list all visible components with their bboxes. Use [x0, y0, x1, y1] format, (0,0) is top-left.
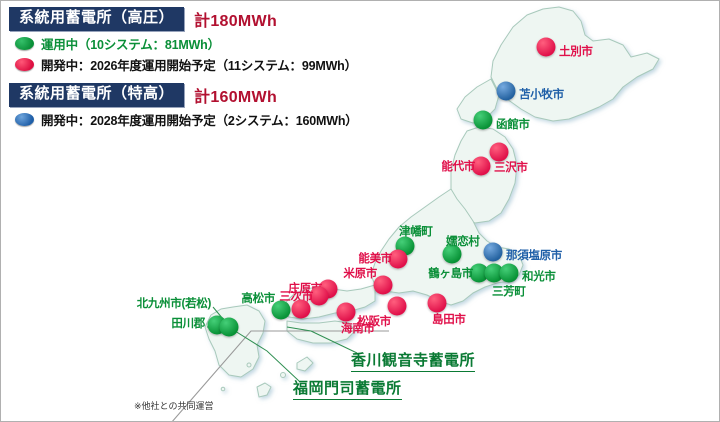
footnote: ※他社との共同運営 [134, 399, 213, 412]
infographic-canvas: 系統用蓄電所（高圧） 計180MWh 運用中（10システム：81MWh） 開発中… [0, 0, 720, 422]
map-label-鶴ヶ島市: 鶴ヶ島市 [428, 265, 473, 281]
map-label-苫小牧市: 苫小牧市 [519, 86, 564, 102]
map-label-米原市: 米原市 [343, 265, 377, 281]
small-island-1 [281, 373, 286, 378]
map-label-田川郡: 田川郡 [171, 315, 205, 331]
map-label-土別市: 土別市 [559, 43, 593, 59]
small-island-3 [221, 387, 225, 391]
blue-dot-icon [15, 113, 34, 126]
map-label-三芳町: 三芳町 [492, 283, 526, 299]
small-island-2 [247, 363, 251, 367]
map-label-海南市: 海南市 [341, 320, 375, 336]
map-marker-那須塩原市[interactable] [484, 243, 503, 262]
category-title-koatsu: 系統用蓄電所（高圧） [9, 7, 184, 31]
map-label-函館市: 函館市 [496, 116, 530, 132]
category-title-tokko: 系統用蓄電所（特高） [9, 83, 184, 107]
map-label-能美市: 能美市 [358, 250, 392, 266]
map-marker-土別市[interactable] [537, 38, 556, 57]
green-dot-icon [15, 37, 34, 50]
red-dot-icon [15, 58, 34, 71]
okinawa-shape [257, 383, 271, 397]
map-marker-函館市[interactable] [474, 111, 493, 130]
callout-kagawa-kanonji: 香川観音寺蓄電所 [351, 349, 475, 372]
amami-shape [297, 357, 313, 371]
hokkaido-shape [491, 7, 659, 121]
map-label-高松市: 高松市 [241, 290, 275, 306]
map-marker-高松市2[interactable] [292, 300, 311, 319]
japan-map: 土別市苫小牧市函館市三沢市能代市津幡町能美市嬬恋村那須塩原市鶴ヶ島市三芳町和光市… [161, 1, 720, 422]
callout-fukuoka-moji: 福岡門司蓄電所 [293, 377, 402, 400]
map-marker-和光市[interactable] [500, 264, 519, 283]
map-label-三沢市: 三沢市 [494, 159, 528, 175]
map-label-北九州市(若松): 北九州市(若松) [137, 295, 211, 311]
map-marker-海南市[interactable] [337, 303, 356, 322]
map-marker-島田市[interactable] [428, 294, 447, 313]
map-label-能代市: 能代市 [441, 158, 475, 174]
map-label-島田市: 島田市 [432, 311, 466, 327]
map-label-嬬恋村: 嬬恋村 [446, 233, 480, 249]
map-marker-田川郡[interactable] [220, 318, 239, 337]
map-label-那須塩原市: 那須塩原市 [506, 247, 562, 263]
map-label-和光市: 和光市 [522, 268, 556, 284]
map-marker-苫小牧市[interactable] [497, 82, 516, 101]
map-label-津幡町: 津幡町 [399, 223, 433, 239]
